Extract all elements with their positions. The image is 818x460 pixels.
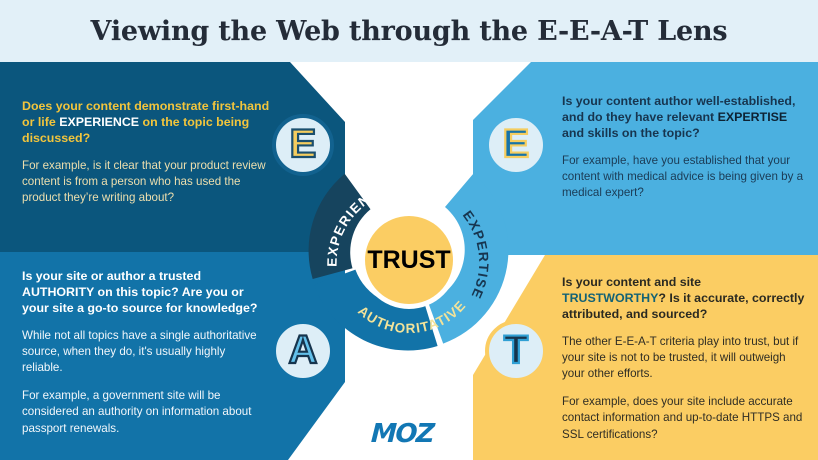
badge-authoritativeness: A <box>272 320 334 382</box>
panel-expertise-text: Is your content author well-established,… <box>562 93 810 202</box>
heading-keyword: EXPERTISE <box>718 110 788 124</box>
donut-svg: TRUST EXPERIENCE EXPERTISE AUTHORITATIVE… <box>299 150 519 370</box>
badge-expertise: E <box>485 114 547 176</box>
header-band: Viewing the Web through the E-E-A-T Lens <box>0 0 818 62</box>
page-title: Viewing the Web through the E-E-A-T Lens <box>91 16 728 47</box>
panel-authoritativeness-body-2: For example, a government site will be c… <box>22 388 264 437</box>
heading-suffix: and skills on the topic? <box>562 126 700 140</box>
panel-experience-body: For example, is it clear that your produ… <box>22 158 270 207</box>
heading-keyword: AUTHORITY <box>22 285 94 299</box>
panel-trustworthiness-text: Is your content and site TRUSTWORTHY? Is… <box>562 274 806 443</box>
badge-experience-letter: E <box>290 124 317 164</box>
panel-authoritativeness-text: Is your site or author a trusted AUTHORI… <box>22 268 264 437</box>
panel-authoritativeness-body: While not all topics have a single autho… <box>22 328 264 377</box>
eeat-donut-diagram: TRUST EXPERIENCE EXPERTISE AUTHORITATIVE… <box>299 150 519 370</box>
moz-logo: MOZ <box>370 419 434 449</box>
panel-expertise-heading: Is your content author well-established,… <box>562 93 810 142</box>
badge-trustworthiness: T <box>485 320 547 382</box>
panel-trustworthiness-body: The other E-E-A-T criteria play into tru… <box>562 334 806 383</box>
badge-expertise-letter: E <box>503 124 530 164</box>
infographic-canvas: Viewing the Web through the E-E-A-T Lens… <box>0 0 818 460</box>
badge-authoritativeness-letter: A <box>289 330 318 370</box>
trust-label: TRUST <box>367 246 450 274</box>
badge-trustworthiness-letter: T <box>504 330 528 370</box>
heading-prefix: Is your content and site <box>562 275 701 289</box>
heading-prefix: Is your site or author a trusted <box>22 269 201 283</box>
panel-trustworthiness-body-2: For example, does your site include accu… <box>562 394 806 443</box>
badge-experience: E <box>272 114 334 176</box>
panel-expertise-body: For example, have you established that y… <box>562 153 810 202</box>
panel-experience-text: Does your content demonstrate first-hand… <box>22 98 270 207</box>
panel-trustworthiness-heading: Is your content and site TRUSTWORTHY? Is… <box>562 274 806 323</box>
panel-experience-heading: Does your content demonstrate first-hand… <box>22 98 270 147</box>
heading-keyword: EXPERIENCE <box>59 115 139 129</box>
panel-authoritativeness-heading: Is your site or author a trusted AUTHORI… <box>22 268 264 317</box>
heading-keyword: TRUSTWORTHY <box>562 291 658 305</box>
